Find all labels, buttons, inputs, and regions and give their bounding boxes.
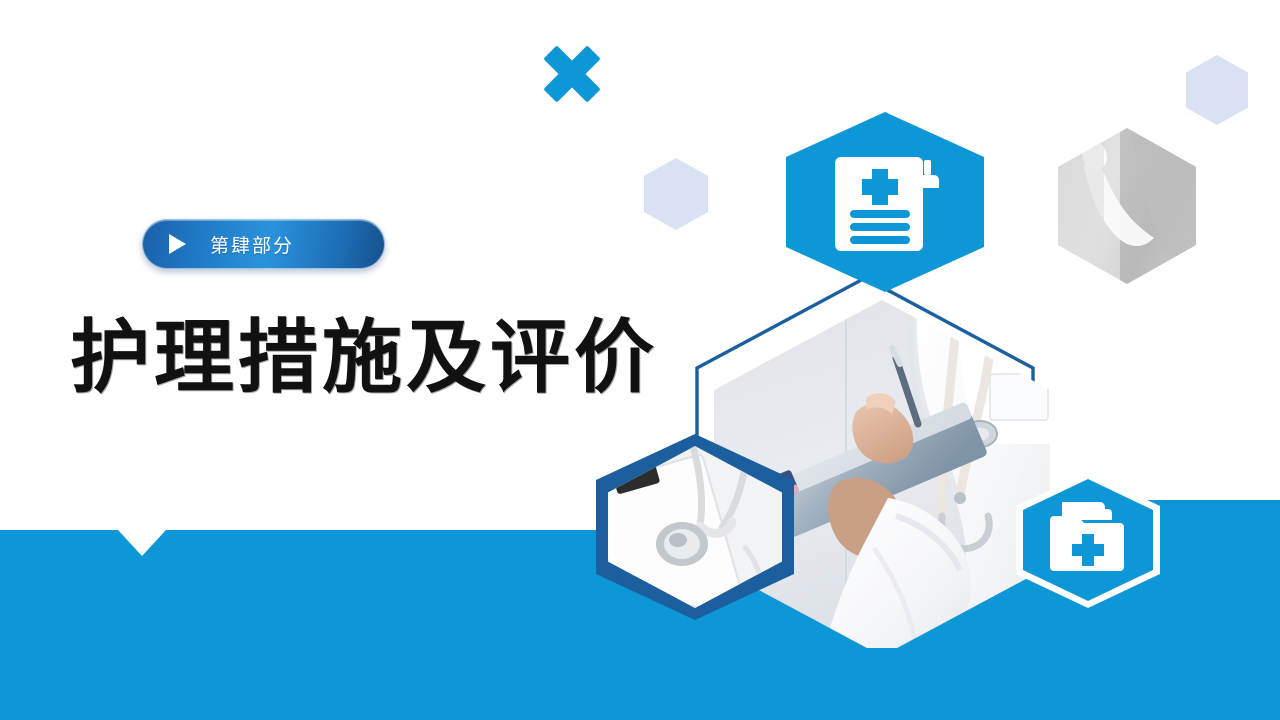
stethoscope-clipboard-photo-hexagon (596, 434, 794, 620)
blue-x-cross-icon (536, 38, 608, 110)
pale-hexagon-left (644, 158, 708, 230)
medical-record-hexagon (786, 112, 984, 292)
section-badge-label: 第肆部分 (210, 231, 294, 258)
medical-folder-hexagon (1016, 472, 1160, 608)
pale-hexagon-right (1186, 55, 1248, 125)
section-badge[interactable]: 第肆部分 (142, 219, 385, 269)
page-title: 护理措施及评价 (70, 316, 658, 401)
presentation-slide: 第肆部分 护理措施及评价 (0, 0, 1280, 720)
play-triangle-icon (169, 234, 186, 254)
